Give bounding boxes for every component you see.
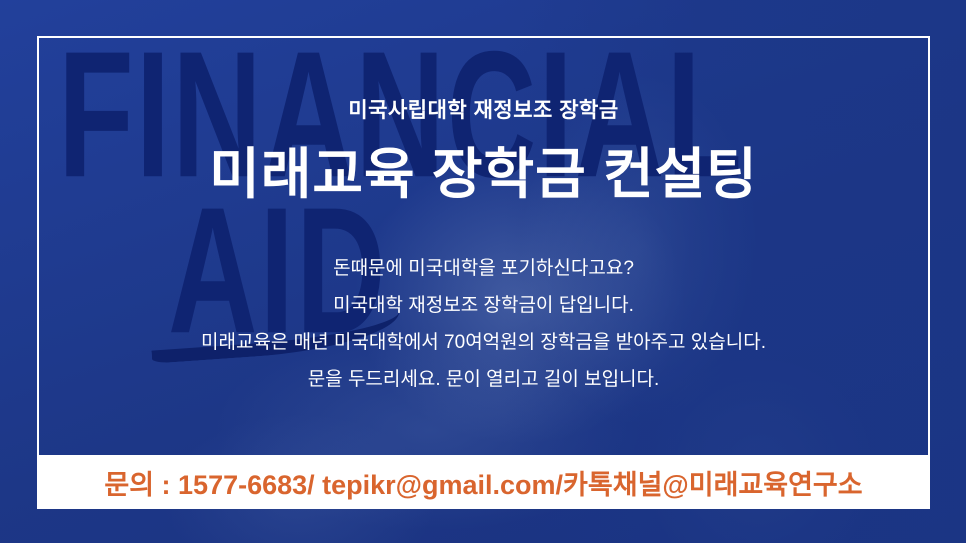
body-copy: 돈때문에 미국대학을 포기하신다고요? 미국대학 재정보조 장학금이 답입니다.… <box>37 250 930 398</box>
eyebrow-text: 미국사립대학 재정보조 장학금 <box>37 94 930 124</box>
body-line: 미래교육은 매년 미국대학에서 70여억원의 장학금을 받아주고 있습니다. <box>37 324 930 361</box>
body-line: 돈때문에 미국대학을 포기하신다고요? <box>37 250 930 287</box>
poster-content: 미국사립대학 재정보조 장학금 미래교육 장학금 컨설팅 돈때문에 미국대학을 … <box>37 36 930 459</box>
promo-poster: FINANCIAL AID 미국사립대학 재정보조 장학금 미래교육 장학금 컨… <box>0 0 966 543</box>
contact-bar[interactable]: 문의 : 1577-6683/ tepikr@gmail.com/카톡채널@미래… <box>37 455 930 509</box>
page-title: 미래교육 장학금 컨설팅 <box>37 146 930 204</box>
body-line: 미국대학 재정보조 장학금이 답입니다. <box>37 287 930 324</box>
contact-text[interactable]: 문의 : 1577-6683/ tepikr@gmail.com/카톡채널@미래… <box>104 463 862 502</box>
body-line: 문을 두드리세요. 문이 열리고 길이 보입니다. <box>37 361 930 398</box>
